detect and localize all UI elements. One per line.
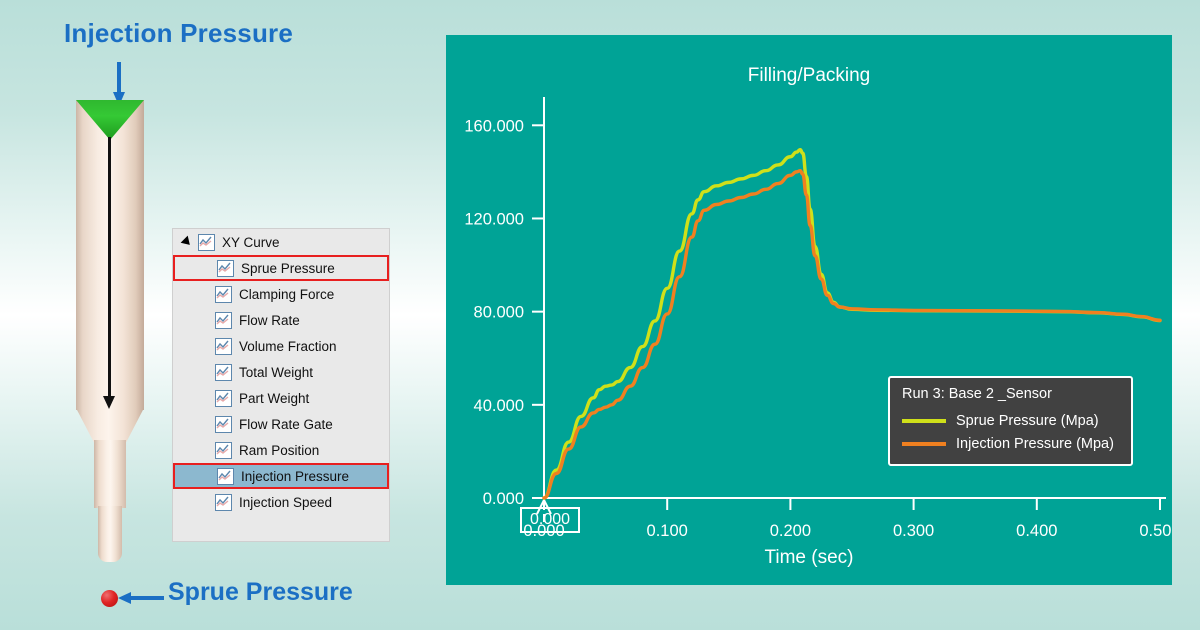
sprue-sensor-dot <box>101 590 118 607</box>
barrel-taper <box>76 408 144 442</box>
legend-item: Injection Pressure (Mpa) <box>902 432 1131 455</box>
svg-text:160.000: 160.000 <box>464 117 524 135</box>
svg-text:0.100: 0.100 <box>647 522 688 540</box>
tree-item-flow-rate[interactable]: Flow Rate <box>173 307 389 333</box>
tree-item-label: Ram Position <box>239 443 319 458</box>
svg-text:0.000: 0.000 <box>483 490 524 508</box>
tree-item-label: Flow Rate Gate <box>239 417 333 432</box>
tree-item-label: Clamping Force <box>239 287 334 302</box>
xy-curve-icon[interactable] <box>217 468 234 485</box>
legend-label: Sprue Pressure (Mpa) <box>956 413 1099 429</box>
cursor-value-box[interactable]: 0.000 <box>520 507 580 533</box>
xy-curve-icon[interactable] <box>217 260 234 277</box>
sprue-pressure-label: Sprue Pressure <box>168 578 353 607</box>
xy-curve-icon[interactable] <box>215 312 232 329</box>
svg-text:0.400: 0.400 <box>1016 522 1057 540</box>
tree-root-label: XY Curve <box>222 235 280 250</box>
caret-expanded-icon[interactable] <box>181 236 194 249</box>
tree-children: Sprue PressureClamping ForceFlow RateVol… <box>173 255 389 515</box>
xy-curve-icon[interactable] <box>215 286 232 303</box>
tree-item-injection-speed[interactable]: Injection Speed <box>173 489 389 515</box>
legend-title: Run 3: Base 2 _Sensor <box>902 386 1131 402</box>
ram-shaft <box>108 137 111 402</box>
arrow-left-icon <box>118 592 164 604</box>
nozzle-upper <box>94 440 126 508</box>
svg-text:0.500: 0.500 <box>1139 522 1172 540</box>
svg-text:80.000: 80.000 <box>474 304 524 322</box>
svg-text:40.000: 40.000 <box>474 397 524 415</box>
injection-pressure-label: Injection Pressure <box>64 18 293 49</box>
legend-item: Sprue Pressure (Mpa) <box>902 409 1131 432</box>
legend-swatch <box>902 442 946 446</box>
xy-curve-icon[interactable] <box>215 338 232 355</box>
svg-text:0.300: 0.300 <box>893 522 934 540</box>
tree-item-clamping-force[interactable]: Clamping Force <box>173 281 389 307</box>
tree-item-label: Injection Speed <box>239 495 332 510</box>
tree-item-label: Total Weight <box>239 365 313 380</box>
xy-curve-icon[interactable] <box>215 364 232 381</box>
legend-rows: Sprue Pressure (Mpa)Injection Pressure (… <box>902 409 1131 455</box>
ram-arrow-icon <box>103 396 115 409</box>
tree-item-total-weight[interactable]: Total Weight <box>173 359 389 385</box>
svg-text:0.200: 0.200 <box>770 522 811 540</box>
legend-label: Injection Pressure (Mpa) <box>956 436 1114 452</box>
tree-root-xy-curve[interactable]: XY Curve <box>173 229 389 255</box>
xy-curve-icon[interactable] <box>215 416 232 433</box>
tree-item-ram-position[interactable]: Ram Position <box>173 437 389 463</box>
tree-item-sprue-pressure[interactable]: Sprue Pressure <box>173 255 389 281</box>
nozzle-lower <box>98 506 122 562</box>
tree-item-flow-rate-gate[interactable]: Flow Rate Gate <box>173 411 389 437</box>
chart-legend: Run 3: Base 2 _Sensor Sprue Pressure (Mp… <box>888 376 1133 466</box>
xy-curve-icon[interactable] <box>215 442 232 459</box>
tree-item-part-weight[interactable]: Part Weight <box>173 385 389 411</box>
xy-curve-icon[interactable] <box>215 494 232 511</box>
xy-curve-tree-panel[interactable]: XY Curve Sprue PressureClamping ForceFlo… <box>172 228 390 542</box>
tree-item-injection-pressure[interactable]: Injection Pressure <box>173 463 389 489</box>
tree-item-label: Volume Fraction <box>239 339 337 354</box>
xy-curve-icon[interactable] <box>198 234 215 251</box>
svg-text:120.000: 120.000 <box>464 210 524 228</box>
x-axis-title: Time (sec) <box>446 547 1172 569</box>
plot-area: 0.00040.00080.000120.000160.0000.0000.10… <box>446 35 1172 585</box>
tree-item-label: Flow Rate <box>239 313 300 328</box>
tree-item-label: Sprue Pressure <box>241 261 335 276</box>
tree-item-label: Part Weight <box>239 391 309 406</box>
xy-curve-icon[interactable] <box>215 390 232 407</box>
tree-item-volume-fraction[interactable]: Volume Fraction <box>173 333 389 359</box>
tree-item-label: Injection Pressure <box>241 469 349 484</box>
legend-swatch <box>902 419 946 423</box>
filling-packing-chart: Filling/Packing 0.00040.00080.000120.000… <box>446 35 1172 585</box>
